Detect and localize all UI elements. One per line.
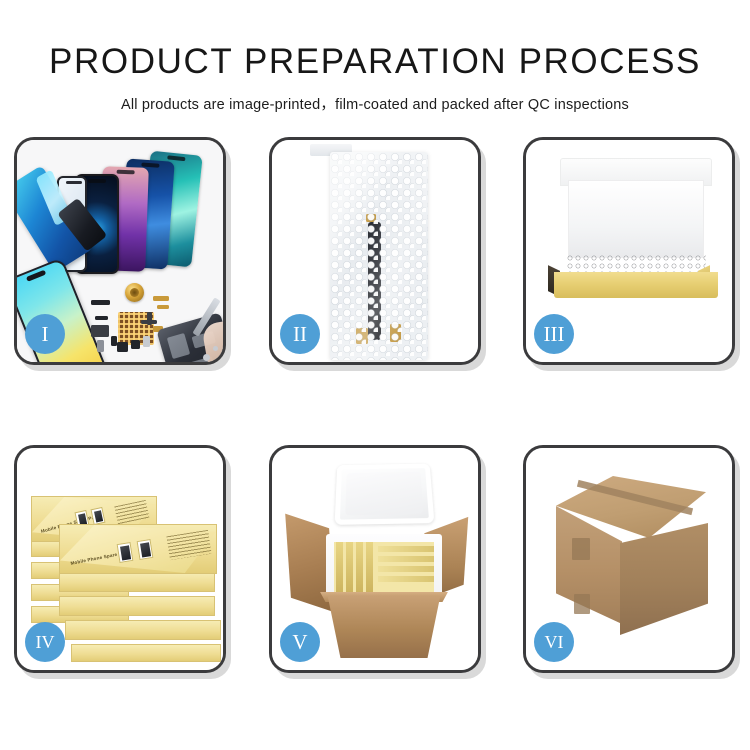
part-speaker-bar xyxy=(91,300,110,305)
retail-box-front-1 xyxy=(59,572,215,592)
part-screw-a xyxy=(203,354,210,361)
process-step-3[interactable]: III xyxy=(523,137,741,371)
part-gold-flex-b xyxy=(157,305,169,309)
step-panel-4[interactable]: Mobile Phone Spare Parts Mobile Phone Sp… xyxy=(14,445,226,673)
box-front-yellow xyxy=(554,272,718,298)
step-panel-6[interactable]: VI xyxy=(523,445,735,673)
step-panel-3[interactable]: III xyxy=(523,137,735,365)
part-taptic-engine xyxy=(131,340,140,349)
step-panel-5[interactable]: V xyxy=(269,445,481,673)
housing-detail-a xyxy=(167,333,190,359)
carton-body xyxy=(320,596,448,658)
part-connector-a xyxy=(95,316,108,320)
box-edge-1 xyxy=(336,542,343,592)
step-badge-6: VI xyxy=(534,622,574,662)
retail-box-front-4 xyxy=(71,644,221,662)
part-screw-b xyxy=(213,346,218,351)
retail-box-top-front: Mobile Phone Spare Parts xyxy=(59,524,217,574)
page-header: PRODUCT PREPARATION PROCESS All products… xyxy=(0,0,750,114)
carton-tape-lower xyxy=(574,594,590,614)
box-thumbnail-b xyxy=(137,539,154,560)
process-step-2[interactable]: II xyxy=(269,137,487,371)
part-shield-plate xyxy=(143,336,150,347)
part-gold-flex-a xyxy=(153,296,169,301)
part-camera-module xyxy=(91,325,109,337)
retail-box-front-2 xyxy=(59,596,215,616)
notch xyxy=(88,179,106,183)
step-badge-1: I xyxy=(25,314,65,354)
process-step-4[interactable]: Mobile Phone Spare Parts Mobile Phone Sp… xyxy=(14,445,232,679)
notch xyxy=(26,270,46,282)
step-badge-3: III xyxy=(534,314,574,354)
product-preparation-process-page: PRODUCT PREPARATION PROCESS All products… xyxy=(0,0,750,750)
box-edge-4 xyxy=(366,542,373,592)
process-step-1[interactable]: I xyxy=(14,137,232,371)
shipping-carton xyxy=(544,476,720,634)
part-speaker-box xyxy=(117,342,128,352)
box-inner-foam-panel xyxy=(568,180,704,258)
process-step-grid: I II xyxy=(0,137,750,697)
box-thumbnail-a xyxy=(117,542,134,563)
carton-right-face xyxy=(620,523,708,635)
carton-tape-upper xyxy=(572,538,590,560)
process-step-6[interactable]: VI xyxy=(523,445,741,679)
styrofoam-lid xyxy=(335,464,435,525)
box-edge-2 xyxy=(346,542,353,592)
box-face-1 xyxy=(378,546,434,552)
process-step-5[interactable]: V xyxy=(269,445,487,679)
page-subtitle: All products are image-printed，film-coat… xyxy=(0,93,750,114)
step-badge-2: II xyxy=(280,314,320,354)
part-sim-tray xyxy=(97,340,104,352)
step-badge-5: V xyxy=(280,622,320,662)
retail-box-front-3 xyxy=(65,620,221,640)
box-face-3 xyxy=(378,566,434,572)
yellow-boxes-inside xyxy=(334,542,434,592)
box-face-4 xyxy=(378,576,434,582)
plastic-highlight xyxy=(330,152,428,360)
bubble-wrap-bag xyxy=(330,152,428,360)
step-badge-4: IV xyxy=(25,622,65,662)
step-panel-2[interactable]: II xyxy=(269,137,481,365)
box-spec-text-lines xyxy=(166,530,211,560)
notch xyxy=(117,170,135,175)
notch xyxy=(141,162,159,167)
page-title: PRODUCT PREPARATION PROCESS xyxy=(0,44,750,81)
box-edge-3 xyxy=(356,542,363,592)
box-face-2 xyxy=(378,556,434,562)
notch xyxy=(167,155,185,161)
part-cable xyxy=(141,320,157,324)
step-panel-1[interactable]: I xyxy=(14,137,226,365)
vibration-motor-gold xyxy=(125,283,144,302)
